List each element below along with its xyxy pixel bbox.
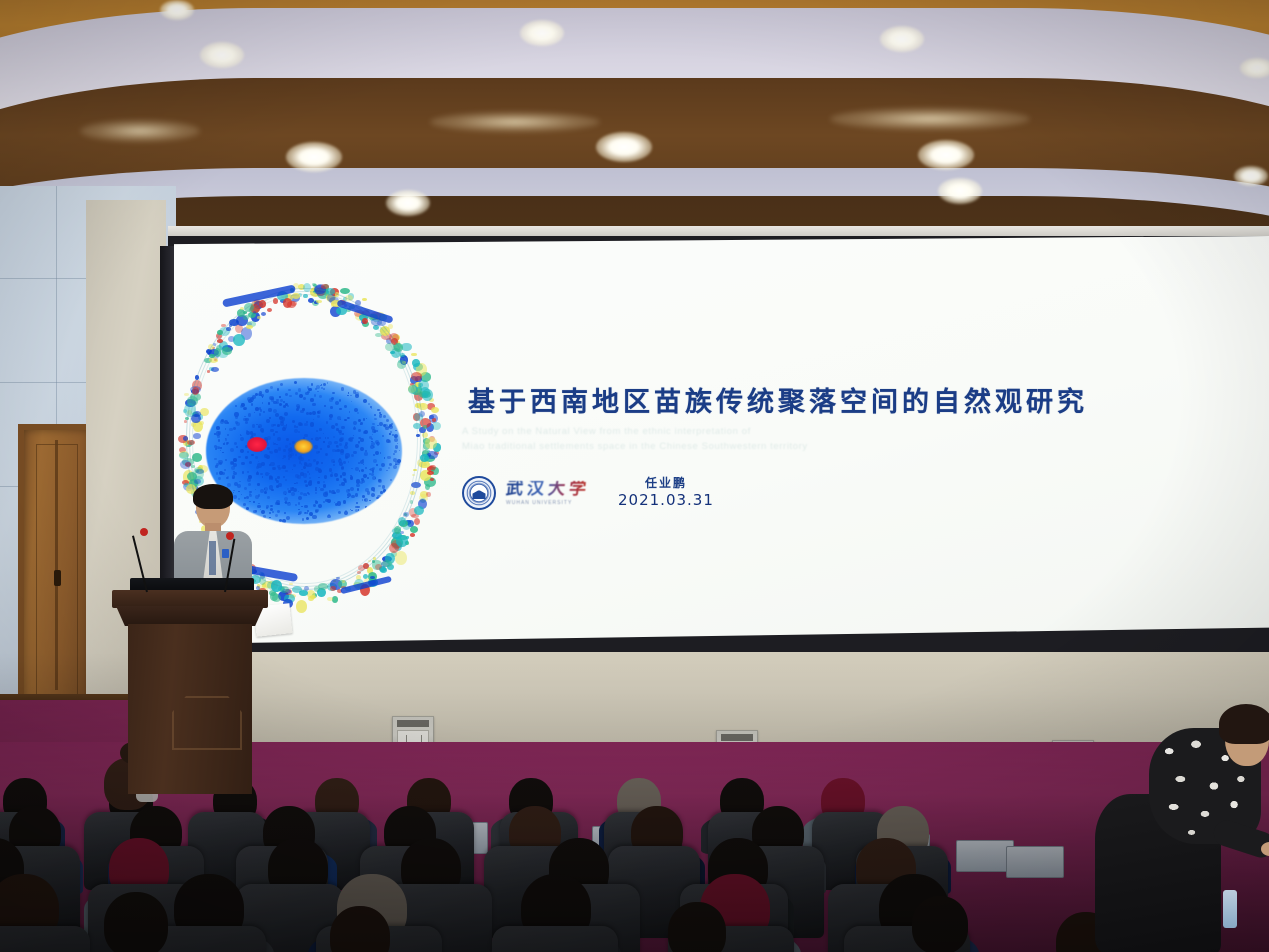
- artwork-core-speck: [267, 447, 270, 450]
- artwork-core-speck: [359, 437, 361, 439]
- artwork-ring-speck: [410, 526, 418, 533]
- artwork-core-speck: [248, 399, 252, 403]
- artwork-core-speck: [254, 412, 255, 413]
- artwork-core-speck: [339, 438, 343, 442]
- artwork-core-speck: [286, 438, 289, 441]
- artwork-ring-speck: [327, 597, 333, 601]
- presentation-date: 2021.03.31: [618, 491, 714, 510]
- artwork-core-speck: [353, 427, 356, 430]
- artwork-core-speck: [355, 444, 359, 448]
- artwork-core-speck: [300, 472, 304, 476]
- artwork-core-speck: [302, 408, 305, 411]
- artwork-core-speck: [298, 502, 301, 505]
- artwork-core-speck: [394, 450, 397, 453]
- auditorium-photo-scene: 基于西南地区苗族传统聚落空间的自然观研究 A Study on the Natu…: [0, 0, 1269, 952]
- artwork-core-speck: [351, 454, 354, 457]
- artwork-core-speck: [333, 464, 335, 466]
- artwork-core-speck: [280, 383, 283, 386]
- artwork-core-speck: [233, 472, 237, 476]
- artwork-core-speck: [298, 431, 300, 433]
- artwork-ring-speck: [183, 409, 187, 413]
- artwork-core-speck: [317, 391, 319, 393]
- artwork-core-speck: [351, 495, 355, 499]
- artwork-core-speck: [350, 487, 354, 491]
- artwork-core-speck: [236, 446, 238, 448]
- artwork-core-speck: [315, 388, 317, 390]
- artwork-core-speck: [317, 415, 320, 418]
- presenter-tie: [209, 541, 216, 575]
- microphone-right-head-icon: [226, 532, 234, 540]
- artwork-core-speck: [285, 470, 288, 473]
- artwork-core-speck: [283, 425, 287, 429]
- artwork-core-speck: [270, 462, 274, 466]
- artwork-core-speck: [239, 481, 241, 483]
- artwork-core-speck: [218, 439, 220, 441]
- artwork-core-speck: [369, 473, 371, 475]
- artwork-core-speck: [255, 407, 259, 411]
- artwork-core-speck: [257, 505, 261, 509]
- artwork-core-speck: [240, 449, 244, 453]
- artwork-core-speck: [327, 445, 330, 448]
- artwork-core-speck: [326, 421, 328, 423]
- artwork-core-speck: [395, 445, 399, 449]
- artwork-core-speck: [387, 456, 390, 459]
- artwork-core-speck: [345, 456, 349, 460]
- artwork-core-speck: [307, 512, 308, 513]
- artwork-core-speck: [315, 510, 318, 513]
- artwork-core-speck: [268, 402, 271, 405]
- artwork-core-speck: [342, 433, 344, 435]
- artwork-core-speck: [360, 447, 364, 451]
- ceiling-wood-reflection: [430, 112, 600, 132]
- artwork-core-speck: [247, 451, 250, 454]
- artwork-core-speck: [344, 405, 348, 409]
- artwork-core-speck: [386, 419, 389, 422]
- artwork-core-speck: [303, 397, 306, 400]
- artwork-core-speck: [295, 454, 297, 456]
- artwork-core-speck: [353, 421, 357, 425]
- artwork-core-speck: [323, 484, 327, 488]
- artwork-core-speck: [397, 443, 398, 444]
- artwork-core-speck: [259, 391, 262, 394]
- artwork-core-speck: [339, 443, 342, 446]
- artwork-core-speck: [288, 389, 290, 391]
- artwork-core-speck: [331, 397, 334, 400]
- artwork-core-speck: [319, 437, 321, 439]
- artwork-core-speck: [269, 517, 271, 519]
- artwork-core-speck: [283, 455, 286, 458]
- artwork-core-speck: [253, 501, 255, 503]
- artwork-core-speck: [266, 455, 270, 459]
- artwork-core-speck: [266, 419, 270, 423]
- artwork-core-speck: [279, 396, 281, 398]
- artwork-core-speck: [334, 473, 338, 477]
- artwork-core-speck: [339, 484, 341, 486]
- artwork-core-speck: [285, 393, 288, 396]
- artwork-core-speck: [273, 409, 277, 413]
- artwork-core-speck: [323, 481, 325, 483]
- artwork-core-speck: [363, 418, 366, 421]
- artwork-core-speck: [285, 479, 287, 481]
- artwork-core-speck: [327, 382, 328, 383]
- artwork-core-speck: [386, 470, 388, 472]
- artwork-core-speck: [270, 451, 273, 454]
- artwork-core-speck: [342, 472, 346, 476]
- artwork-core-speck: [312, 515, 316, 519]
- artwork-core-speck: [323, 441, 324, 442]
- artwork-core-speck: [378, 485, 381, 488]
- artwork-core-speck: [347, 395, 348, 396]
- artwork-core-speck: [344, 419, 347, 422]
- artwork-core-speck: [288, 490, 291, 493]
- artwork-core-speck: [241, 462, 244, 465]
- artwork-core-speck: [312, 411, 316, 415]
- artwork-core-speck: [272, 511, 274, 513]
- artwork-core-speck: [299, 461, 302, 464]
- artwork-core-speck: [319, 428, 322, 431]
- artwork-core-speck: [323, 433, 325, 435]
- artwork-core-speck: [227, 442, 229, 444]
- ceiling: [0, 0, 1269, 250]
- artwork-core-speck: [283, 449, 286, 452]
- artwork-core-speck: [366, 418, 367, 419]
- artwork-core-speck: [312, 403, 316, 407]
- artwork-core-speck: [334, 441, 338, 445]
- artwork-core-speck: [356, 484, 360, 488]
- slide-footer: 武汉大学 WUHAN UNIVERSITY 任业鹏 2021.03.31: [462, 476, 714, 510]
- artwork-core-speck: [368, 403, 370, 405]
- artwork-core-speck: [389, 433, 391, 435]
- artwork-core-speck: [360, 438, 364, 442]
- artwork-core-speck: [304, 434, 307, 437]
- artwork-core-speck: [216, 431, 220, 435]
- artwork-core-speck: [284, 512, 286, 514]
- artwork-core-speck: [373, 490, 375, 492]
- artwork-core-speck: [327, 437, 330, 440]
- artwork-core-speck: [339, 408, 342, 411]
- artwork-core-speck: [333, 436, 335, 438]
- artwork-ring-speck: [362, 298, 368, 301]
- artwork-core-speck: [346, 489, 350, 493]
- artwork-core-speck: [315, 492, 317, 494]
- artwork-core-speck: [355, 493, 359, 497]
- artwork-core-speck: [279, 465, 280, 466]
- artwork-core-speck: [343, 461, 346, 464]
- artwork-core-speck: [373, 459, 377, 463]
- artwork-core-speck: [336, 478, 339, 481]
- artwork-core-speck: [259, 413, 262, 416]
- artwork-core-speck: [245, 418, 249, 422]
- podium-body: [128, 624, 252, 794]
- artwork-core-speck: [371, 493, 375, 497]
- artwork-core-speck: [282, 465, 286, 469]
- artwork-core-speck: [295, 504, 297, 506]
- artwork-core-speck: [356, 502, 358, 504]
- artwork-core-speck: [330, 406, 333, 409]
- artwork-core-speck: [251, 454, 254, 457]
- artwork-core-speck: [257, 483, 259, 485]
- artwork-core-speck: [275, 431, 278, 434]
- artwork-ring-speck: [430, 478, 434, 481]
- artwork-core-speck: [395, 430, 397, 432]
- podium-front-panel-moulding: [172, 696, 242, 750]
- artwork-core-speck: [235, 405, 237, 407]
- artwork-core-speck: [265, 389, 269, 393]
- artwork-core-speck: [340, 475, 343, 478]
- artwork-core-speck: [313, 419, 314, 420]
- artwork-core-speck: [220, 447, 222, 449]
- artwork-core-speck: [277, 510, 281, 514]
- artwork-ring-speck: [380, 567, 388, 573]
- artwork-core-speck: [234, 482, 238, 486]
- artwork-core-speck: [306, 517, 309, 520]
- artwork-core-speck: [251, 403, 254, 406]
- artwork-core-speck: [214, 445, 217, 448]
- artwork-core-speck: [310, 422, 314, 426]
- artwork-core-speck: [344, 511, 348, 515]
- university-name-en: WUHAN UNIVERSITY: [506, 501, 590, 506]
- artwork-core-speck: [316, 463, 318, 465]
- artwork-core-speck: [277, 437, 281, 441]
- artwork-core-speck: [341, 387, 345, 391]
- artwork-core-speck: [304, 505, 308, 509]
- artwork-core-speck: [249, 493, 251, 495]
- artwork-core-speck: [357, 488, 360, 491]
- artwork-core-speck: [234, 442, 237, 445]
- artwork-core-speck: [220, 450, 221, 451]
- artwork-core-speck: [287, 405, 289, 407]
- artwork-core-speck: [287, 488, 289, 490]
- artwork-core-speck: [255, 489, 256, 490]
- artwork-core-speck: [393, 453, 395, 455]
- artwork-core-speck: [348, 392, 349, 393]
- artwork-core-speck: [388, 467, 390, 469]
- presenter-name: 任业鹏: [645, 476, 687, 491]
- artwork-core-speck: [393, 458, 397, 462]
- artwork-core-speck: [248, 413, 252, 417]
- artwork-core-speck: [372, 476, 376, 480]
- artwork-core-speck: [358, 429, 361, 432]
- artwork-core-speck: [276, 500, 280, 504]
- artwork-core-speck: [378, 479, 382, 483]
- artwork-core-speck: [336, 428, 339, 431]
- artwork-ring-speck: [411, 353, 417, 357]
- artwork-core-speck: [348, 461, 349, 462]
- artwork-core-speck: [371, 408, 373, 410]
- artwork-core-speck: [269, 485, 273, 489]
- artwork-core-speck: [321, 384, 322, 385]
- artwork-core-speck: [298, 496, 302, 500]
- podium: [112, 590, 268, 805]
- artwork-core-speck: [367, 491, 370, 494]
- artwork-core-speck: [216, 472, 219, 475]
- artwork-core-speck: [269, 396, 273, 400]
- artwork-core-speck: [266, 505, 269, 508]
- artwork-core-speck: [293, 464, 296, 467]
- artwork-core-speck: [298, 388, 302, 392]
- artwork-gold-focal-point: [294, 439, 313, 454]
- artwork-core-speck: [364, 498, 368, 502]
- artwork-core-speck: [332, 392, 334, 394]
- artwork-core-speck: [329, 418, 331, 420]
- artwork-core-speck: [388, 440, 391, 443]
- presenter-hair: [193, 484, 233, 509]
- artwork-core-speck: [252, 395, 256, 399]
- artwork-core-speck: [227, 422, 229, 424]
- artwork-core-speck: [296, 426, 299, 429]
- artwork-core-speck: [323, 383, 327, 387]
- artwork-core-speck: [295, 392, 298, 395]
- artwork-ring-speck: [299, 590, 308, 596]
- artwork-core-speck: [341, 426, 344, 429]
- artwork-core-speck: [283, 491, 287, 495]
- presenter-badge: [222, 549, 229, 558]
- artwork-core-speck: [350, 395, 352, 397]
- artwork-core-speck: [338, 511, 341, 514]
- artwork-ring-speck: [432, 422, 441, 430]
- artwork-core-speck: [258, 503, 260, 505]
- artwork-core-speck: [358, 509, 360, 511]
- artwork-core-speck: [264, 491, 267, 494]
- artwork-core-speck: [285, 445, 288, 448]
- artwork-core-speck: [279, 416, 283, 420]
- door-strike: [55, 440, 58, 690]
- artwork-core-speck: [383, 415, 386, 418]
- artwork-core-speck: [249, 461, 252, 464]
- artwork-core-speck: [268, 408, 271, 411]
- artwork-core-speck: [351, 468, 353, 470]
- artwork-core-speck: [373, 446, 375, 448]
- artwork-core-speck: [260, 473, 263, 476]
- artwork-core-speck: [214, 458, 217, 461]
- standing-attendee-right: [1093, 706, 1269, 952]
- artwork-ring-speck: [414, 506, 424, 515]
- artwork-core-speck: [316, 451, 319, 454]
- artwork-core-speck: [353, 390, 357, 394]
- artwork-core-speck: [320, 448, 322, 450]
- artwork-core-speck: [372, 434, 373, 435]
- artwork-core-speck: [363, 399, 367, 403]
- artwork-core-speck: [256, 424, 258, 426]
- artwork-core-speck: [308, 459, 311, 462]
- artwork-core-speck: [240, 437, 244, 441]
- artwork-core-speck: [381, 463, 385, 467]
- artwork-core-speck: [301, 469, 303, 471]
- artwork-core-speck: [309, 477, 312, 480]
- artwork-core-speck: [225, 438, 228, 441]
- artwork-core-speck: [278, 447, 282, 451]
- artwork-core-speck: [297, 406, 300, 409]
- artwork-core-speck: [389, 463, 393, 467]
- artwork-core-speck: [284, 412, 288, 416]
- artwork-core-speck: [216, 463, 218, 465]
- artwork-core-speck: [358, 441, 361, 444]
- artwork-core-speck: [325, 491, 328, 494]
- ceiling-wood-reflection: [80, 120, 200, 142]
- artwork-ring-speck: [412, 359, 420, 367]
- artwork-core-speck: [273, 433, 275, 435]
- artwork-core-speck: [394, 438, 398, 442]
- artwork-core-speck: [397, 459, 401, 463]
- artwork-core-speck: [271, 478, 273, 480]
- artwork-core-speck: [277, 476, 280, 479]
- artwork-core-speck: [252, 424, 255, 427]
- artwork-core-speck: [306, 412, 309, 415]
- artwork-core-speck: [269, 473, 270, 474]
- artwork-core-speck: [230, 448, 234, 452]
- artwork-core-speck: [247, 471, 249, 473]
- artwork-core-speck: [270, 429, 274, 433]
- podium-top-slab: [112, 590, 268, 608]
- artwork-core-speck: [287, 502, 289, 504]
- artwork-core-speck: [351, 401, 352, 402]
- artwork-core-speck: [283, 405, 286, 408]
- outlet-label-strip: [721, 734, 753, 741]
- artwork-core-speck: [267, 496, 270, 499]
- artwork-core-speck: [241, 403, 244, 406]
- artwork-core-speck: [331, 459, 335, 463]
- artwork-core-speck: [355, 506, 357, 508]
- projection-screen-top-rail: [168, 226, 1269, 236]
- artwork-core-speck: [311, 438, 313, 440]
- artwork-ring-speck: [321, 284, 329, 289]
- artwork-core-speck: [306, 485, 308, 487]
- standing-attendee-hair: [1219, 704, 1269, 744]
- artwork-core-speck: [233, 427, 236, 430]
- artwork-core-speck: [374, 414, 376, 416]
- artwork-core-speck: [289, 443, 291, 445]
- artwork-core-speck: [318, 477, 320, 479]
- artwork-core-speck: [318, 504, 322, 508]
- artwork-core-speck: [280, 422, 284, 426]
- artwork-core-speck: [234, 412, 238, 416]
- artwork-core-speck: [229, 428, 233, 432]
- artwork-core-speck: [329, 414, 333, 418]
- artwork-core-speck: [219, 462, 222, 465]
- outlet-label-strip: [397, 720, 429, 727]
- artwork-core-speck: [248, 483, 252, 487]
- slide-title: 基于西南地区苗族传统聚落空间的自然观研究: [468, 380, 1148, 419]
- artwork-core-speck: [291, 492, 295, 496]
- artwork-core-speck: [379, 468, 382, 471]
- artwork-core-speck: [335, 401, 339, 405]
- artwork-core-speck: [245, 456, 248, 459]
- door-handle[interactable]: [54, 570, 61, 586]
- artwork-core-speck: [340, 449, 344, 453]
- artwork-core-speck: [269, 512, 272, 515]
- artwork-core-speck: [270, 386, 273, 389]
- artwork-core-speck: [296, 482, 298, 484]
- artwork-ring-speck: [427, 471, 434, 475]
- artwork-ring-speck: [296, 600, 308, 613]
- artwork-core-speck: [258, 461, 259, 462]
- slide-subtitle-line-2: Miao traditional settlements space in th…: [462, 439, 1122, 454]
- artwork-ring-speck: [429, 415, 434, 420]
- artwork-core-speck: [289, 395, 292, 398]
- artwork-core-speck: [369, 500, 371, 502]
- artwork-core-speck: [233, 458, 237, 462]
- artwork-core-speck: [246, 431, 250, 435]
- artwork-ring-speck: [410, 533, 416, 537]
- artwork-core-speck: [330, 474, 333, 477]
- artwork-core-speck: [276, 444, 278, 446]
- artwork-core-speck: [380, 491, 383, 494]
- artwork-core-speck: [286, 516, 290, 520]
- artwork-core-speck: [257, 463, 261, 467]
- artwork-core-speck: [314, 445, 318, 449]
- artwork-core-speck: [310, 398, 314, 402]
- artwork-core-speck: [238, 456, 241, 459]
